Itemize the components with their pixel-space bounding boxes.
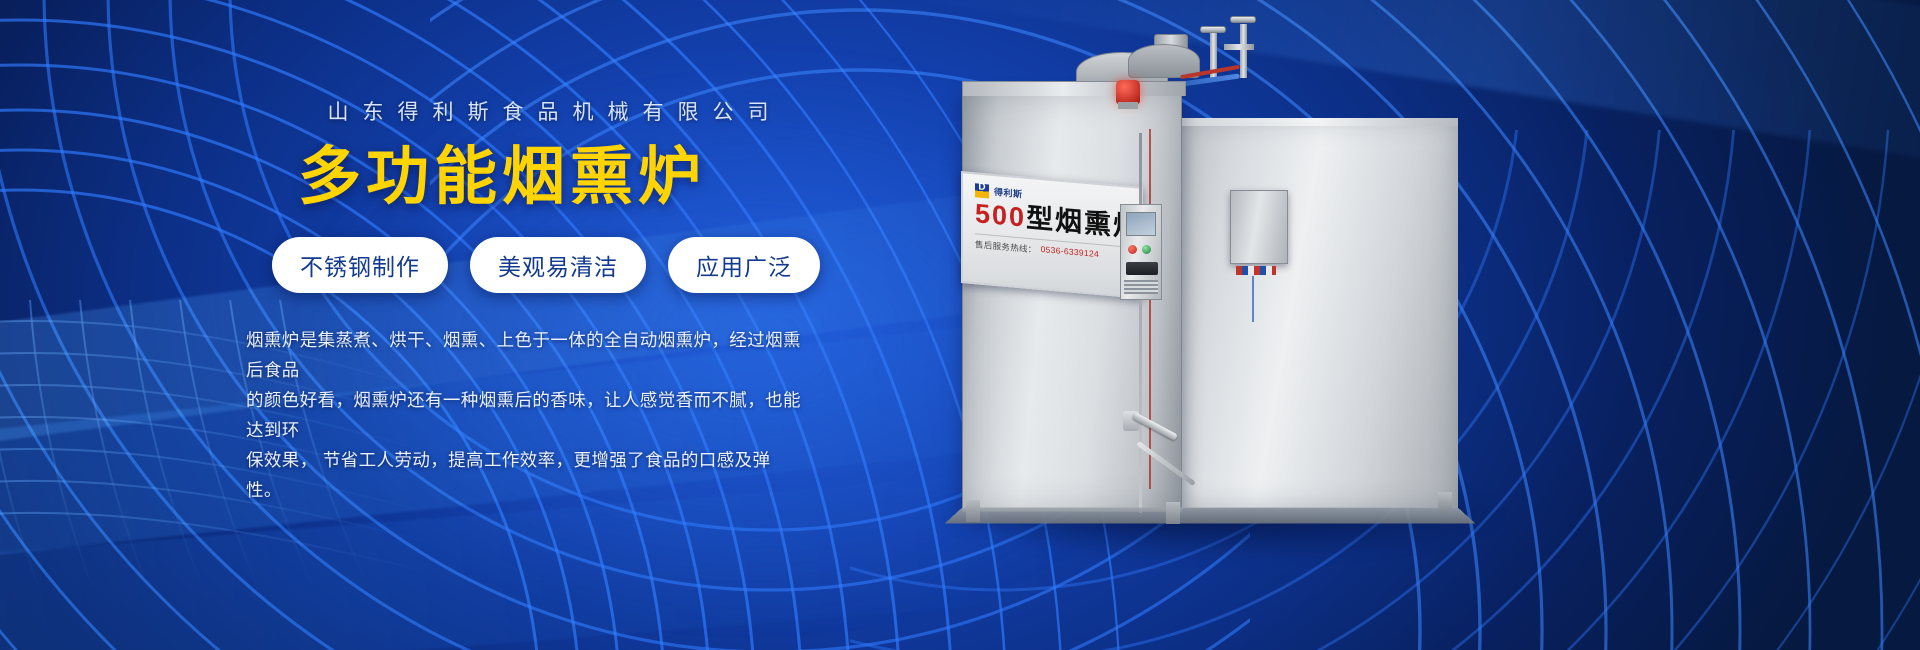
door-hinge-line xyxy=(1149,129,1151,489)
control-cable-ribbon xyxy=(1236,266,1276,275)
description-line-1: 烟熏炉是集蒸煮、烘干、烟熏、上色于一体的全自动烟熏炉，经过烟熏后食品 xyxy=(246,325,806,385)
feature-pill-stainless[interactable]: 不锈钢制作 xyxy=(272,237,448,293)
side-control-box xyxy=(1230,190,1288,264)
description-line-3: 保效果， 节省工人劳动，提高工作效率，更增强了食品的口感及弹性。 xyxy=(246,445,806,505)
machine-rear-body xyxy=(1176,118,1458,508)
brand-mark-icon: D xyxy=(975,183,989,198)
hotline-label: 售后服务热线： xyxy=(975,238,1037,255)
description-line-2: 的颜色好看，烟熏炉还有一种烟熏后的香味，让人感觉香而不腻，也能达到环 xyxy=(246,385,806,445)
panel-vent-grille xyxy=(1124,280,1158,294)
alarm-beacon-light xyxy=(1116,80,1140,104)
valve-handwheel-right xyxy=(1230,16,1256,23)
smokehouse-machine-image: D 得利斯 500型烟熏炉 售后服务热线： 0536-6339124 xyxy=(930,40,1570,560)
stop-button[interactable] xyxy=(1128,245,1137,254)
panel-display-screen xyxy=(1126,212,1156,236)
product-description: 烟熏炉是集蒸煮、烘干、烟熏、上色于一体的全自动烟熏炉，经过烟熏后食品 的颜色好看… xyxy=(246,325,806,506)
machine-leg-right xyxy=(1438,492,1452,514)
feature-pill-list: 不锈钢制作 美观易清洁 应用广泛 xyxy=(272,237,846,293)
brand-name-text: 得利斯 xyxy=(994,185,1023,200)
valve-stem-right xyxy=(1240,24,1247,78)
machine-front-door: D 得利斯 500型烟熏炉 售后服务热线： 0536-6339124 xyxy=(962,92,1182,512)
hotline-number: 0536-6339124 xyxy=(1041,244,1099,261)
feature-pill-easy-clean[interactable]: 美观易清洁 xyxy=(470,237,646,293)
control-wire xyxy=(1252,276,1254,322)
company-name: 山东得利斯食品机械有限公司 xyxy=(264,96,846,126)
page-title: 多功能烟熏炉 xyxy=(298,144,846,211)
valve-crossbar xyxy=(1224,44,1254,50)
machine-base-platform xyxy=(945,507,1475,523)
sign-hotline: 售后服务热线： 0536-6339124 xyxy=(975,238,1131,264)
machine-leg-left xyxy=(966,500,980,522)
banner-content: 山东得利斯食品机械有限公司 多功能烟熏炉 不锈钢制作 美观易清洁 应用广泛 烟熏… xyxy=(246,96,846,505)
machine-leg-center xyxy=(1166,502,1180,524)
beacon-base xyxy=(1118,102,1138,109)
machine-info-sign: D 得利斯 500型烟熏炉 售后服务热线： 0536-6339124 xyxy=(961,171,1143,299)
start-button[interactable] xyxy=(1142,245,1151,254)
valve-handwheel-left xyxy=(1200,26,1226,33)
sign-model-number: 500 xyxy=(975,198,1026,232)
panel-keypad[interactable] xyxy=(1126,262,1158,275)
promo-banner: 山东得利斯食品机械有限公司 多功能烟熏炉 不锈钢制作 美观易清洁 应用广泛 烟熏… xyxy=(0,0,1920,650)
feature-pill-wide-use[interactable]: 应用广泛 xyxy=(668,237,820,293)
door-seam xyxy=(1139,133,1142,513)
